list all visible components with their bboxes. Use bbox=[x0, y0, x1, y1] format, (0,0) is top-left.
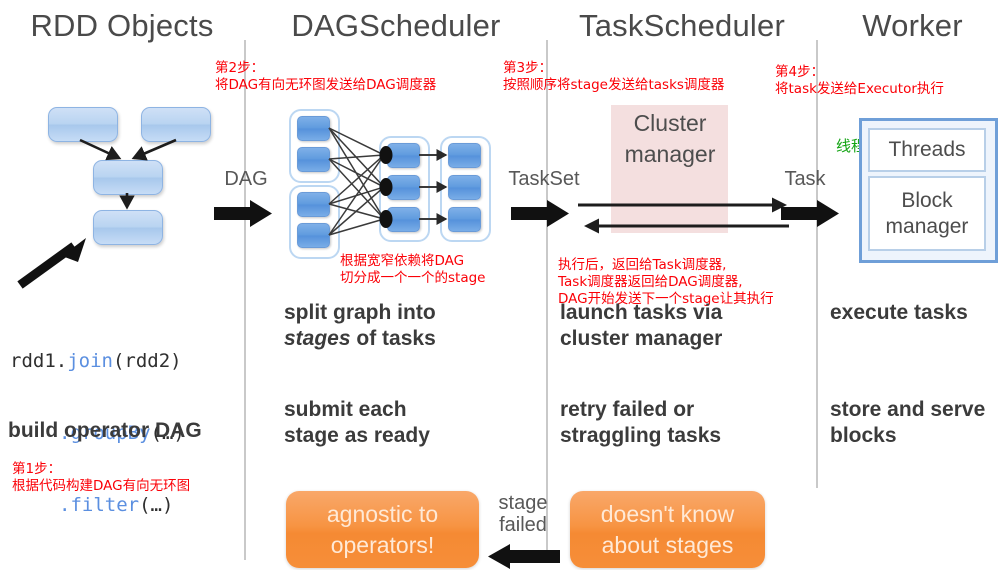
divider-rdd-dag bbox=[244, 40, 246, 560]
flow-label-task: Task bbox=[770, 168, 840, 190]
column-header-worker: Worker bbox=[818, 8, 1007, 44]
rdd-edges bbox=[0, 0, 244, 300]
cluster-manager-label: Cluster manager bbox=[601, 108, 739, 170]
flow-label-taskset: TaskSet bbox=[494, 168, 594, 190]
divider-dag-task bbox=[546, 40, 548, 560]
desc-split-graph: split graph intostages of tasks bbox=[284, 300, 436, 352]
column-header-task-scheduler: TaskScheduler bbox=[548, 8, 816, 44]
desc-build-operator-dag: build operator DAG bbox=[8, 418, 202, 444]
desc-execute-tasks: execute tasks bbox=[830, 300, 968, 326]
worker-threads-box: Threads bbox=[868, 128, 986, 172]
desc-retry-failed: retry failed or straggling tasks bbox=[560, 397, 721, 449]
arrow-dag-icon bbox=[214, 198, 276, 230]
flow-label-stage-failed: stage failed bbox=[486, 492, 560, 536]
arrow-taskset-icon bbox=[511, 198, 573, 230]
arrow-stage-failed-icon bbox=[488, 544, 560, 570]
annotation-step-3: 第3步： 按照顺序将stage发送给tasks调度器 bbox=[503, 60, 724, 94]
divider-task-worker bbox=[816, 40, 818, 488]
worker-block-manager-box: Block manager bbox=[868, 176, 986, 251]
desc-launch-tasks: launch tasks via cluster manager bbox=[560, 300, 722, 352]
desc-store-and-serve: store and serve blocks bbox=[830, 397, 985, 449]
desc-stages-emphasis: stages bbox=[284, 327, 351, 350]
annotation-step-2: 第2步： 将DAG有向无环图发送给DAG调度器 bbox=[215, 60, 436, 94]
annotation-step-4: 第4步： 将task发送给Executor执行 bbox=[775, 64, 944, 98]
callout-agnostic-to-operators: agnostic to operators! bbox=[286, 491, 479, 568]
cluster-manager-bidirectional-arrows bbox=[578, 196, 793, 238]
arrow-task-icon bbox=[781, 198, 843, 230]
column-header-dag-scheduler: DAGScheduler bbox=[246, 8, 546, 44]
code-line-3: .filter(…) bbox=[10, 493, 185, 517]
desc-submit-stage: submit each stage as ready bbox=[284, 397, 430, 449]
dag-edges bbox=[280, 100, 495, 260]
flow-label-dag: DAG bbox=[216, 168, 276, 190]
code-line-1: rdd1.join(rdd2) bbox=[10, 349, 185, 373]
callout-doesnt-know-about-stages: doesn't know about stages bbox=[570, 491, 765, 568]
spark-architecture-diagram: RDD Objects DAGScheduler TaskScheduler W… bbox=[0, 0, 1007, 568]
